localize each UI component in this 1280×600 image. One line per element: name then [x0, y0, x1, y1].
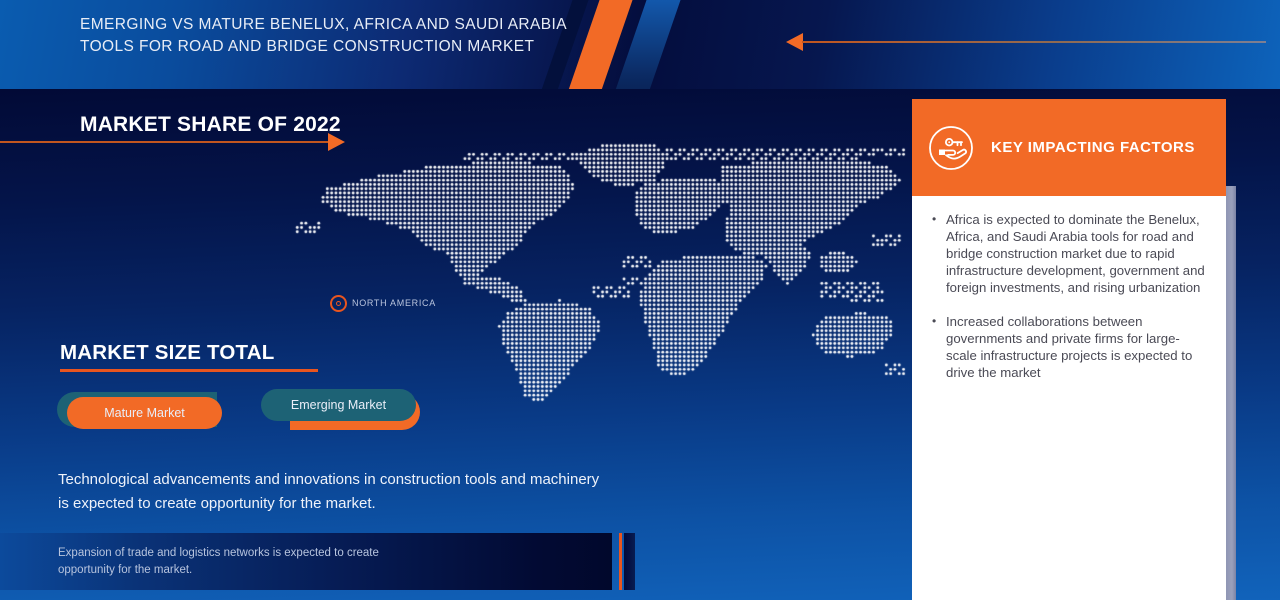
legend-item-emerging-market[interactable]: Emerging Market — [261, 389, 416, 421]
key-factors-card-shadow — [1226, 186, 1236, 600]
map-marker-label: NORTH AMERICA — [352, 298, 436, 308]
key-factors-card: KEY IMPACTING FACTORS • Africa is expect… — [912, 99, 1226, 600]
key-factors-title: KEY IMPACTING FACTORS — [991, 139, 1195, 156]
key-factors-header: KEY IMPACTING FACTORS — [912, 99, 1226, 196]
legend-item-mature-market[interactable]: Mature Market — [67, 397, 222, 429]
header-bar: EMERGING VS MATURE BENELUX, AFRICA AND S… — [0, 0, 1280, 89]
list-item-text: Africa is expected to dominate the Benel… — [946, 211, 1208, 296]
location-target-icon — [330, 295, 347, 312]
infographic-canvas: EMERGING VS MATURE BENELUX, AFRICA AND S… — [0, 0, 1280, 600]
page-title: EMERGING VS MATURE BENELUX, AFRICA AND S… — [80, 14, 580, 57]
list-item: • Africa is expected to dominate the Ben… — [912, 211, 1226, 296]
hand-holding-key-icon — [928, 125, 974, 171]
key-factors-list: • Africa is expected to dominate the Ben… — [912, 211, 1226, 398]
market-share-title: MARKET SHARE OF 2022 — [80, 113, 341, 137]
header-arrow-line — [802, 41, 1266, 43]
market-size-underline — [60, 369, 318, 372]
market-size-title: MARKET SIZE TOTAL — [60, 341, 274, 365]
bottom-banner-tail — [624, 533, 635, 590]
list-item-text: Increased collaborations between governm… — [946, 313, 1208, 381]
arrow-left-icon — [786, 33, 803, 51]
bottom-banner-text: Expansion of trade and logistics network… — [58, 545, 488, 579]
world-map — [270, 140, 910, 405]
bullet-icon: • — [932, 313, 946, 381]
opportunity-text: Technological advancements and innovatio… — [58, 468, 758, 516]
list-item: • Increased collaborations between gover… — [912, 313, 1226, 381]
header-arrow — [786, 33, 1266, 53]
market-size-legend: Mature Market Emerging Market — [0, 380, 500, 440]
bullet-icon: • — [932, 211, 946, 296]
bottom-banner-accent-line — [619, 533, 622, 590]
